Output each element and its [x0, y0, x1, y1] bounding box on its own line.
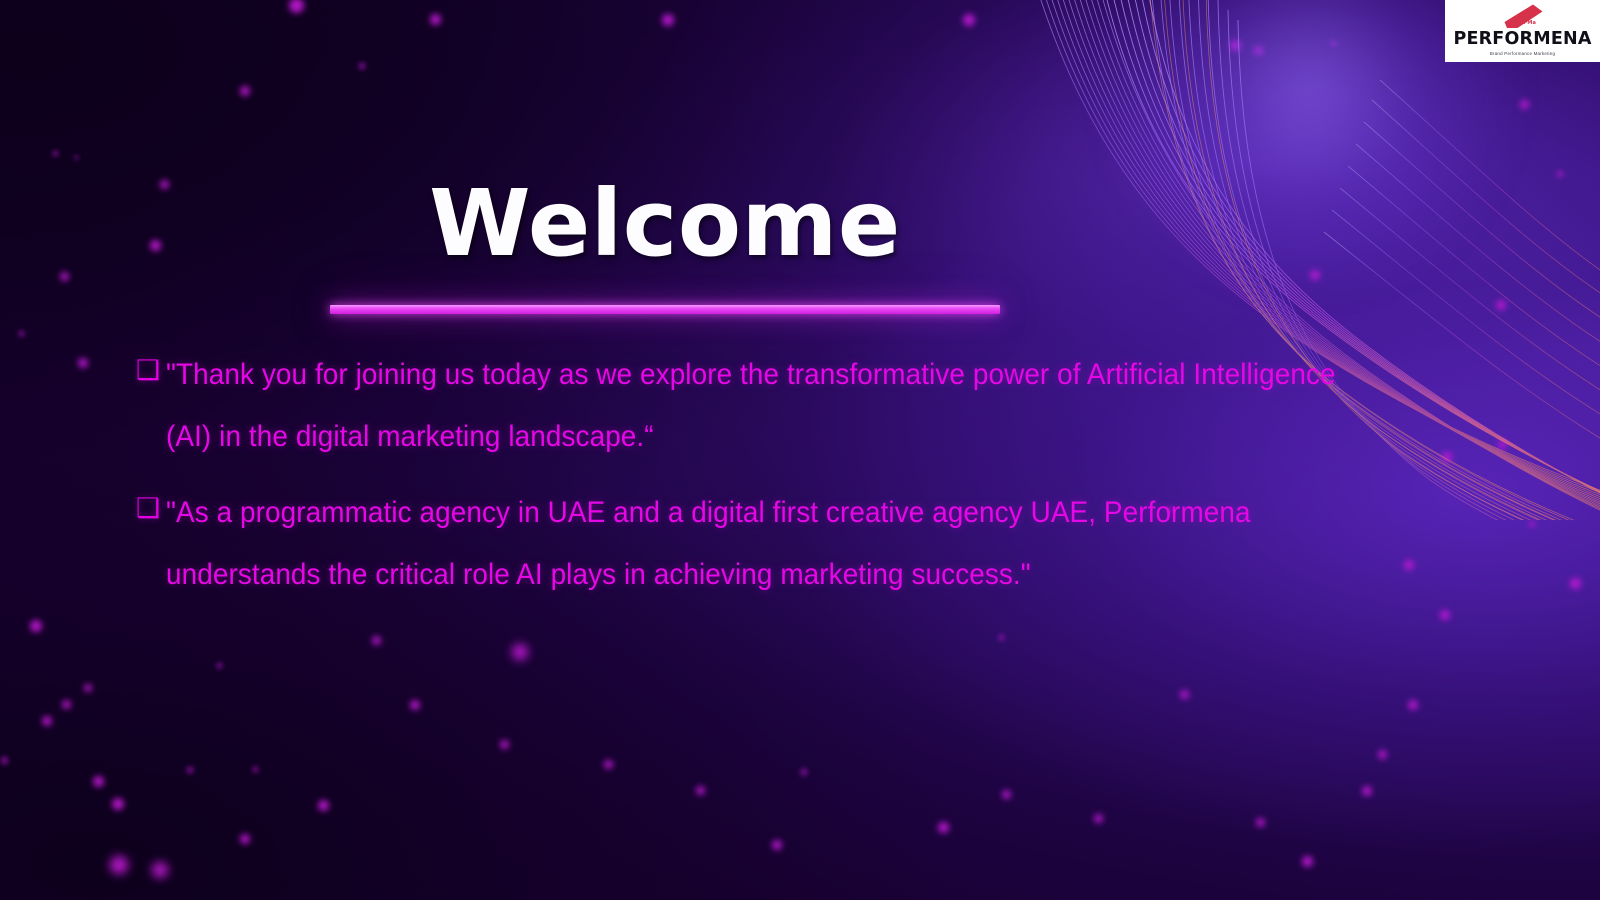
bullet-list: ❑ "Thank you for joining us today as we …: [136, 344, 1466, 620]
list-item: ❑ "As a programmatic agency in UAE and a…: [136, 482, 1466, 606]
square-bullet-icon: ❑: [136, 482, 166, 536]
page-title: Welcome: [330, 176, 1000, 273]
logo-initials: PMa: [1524, 20, 1537, 26]
presentation-slide: Welcome ❑ "Thank you for joining us toda…: [0, 0, 1600, 900]
logo-mark: PMa: [1445, 3, 1600, 29]
slash-icon: [1495, 3, 1551, 29]
performena-logo: PMa PERFORMENA Brand Performance Marketi…: [1445, 0, 1600, 62]
title-underline-rule: [330, 305, 1000, 314]
square-bullet-icon: ❑: [136, 344, 166, 398]
logo-wordmark: PERFORMENA: [1453, 29, 1591, 49]
title-block: Welcome: [330, 176, 1000, 314]
logo-tagline: Brand Performance Marketing: [1490, 50, 1555, 57]
bullet-text: "Thank you for joining us today as we ex…: [166, 344, 1375, 468]
list-item: ❑ "Thank you for joining us today as we …: [136, 344, 1466, 468]
bullet-text: "As a programmatic agency in UAE and a d…: [166, 482, 1375, 606]
